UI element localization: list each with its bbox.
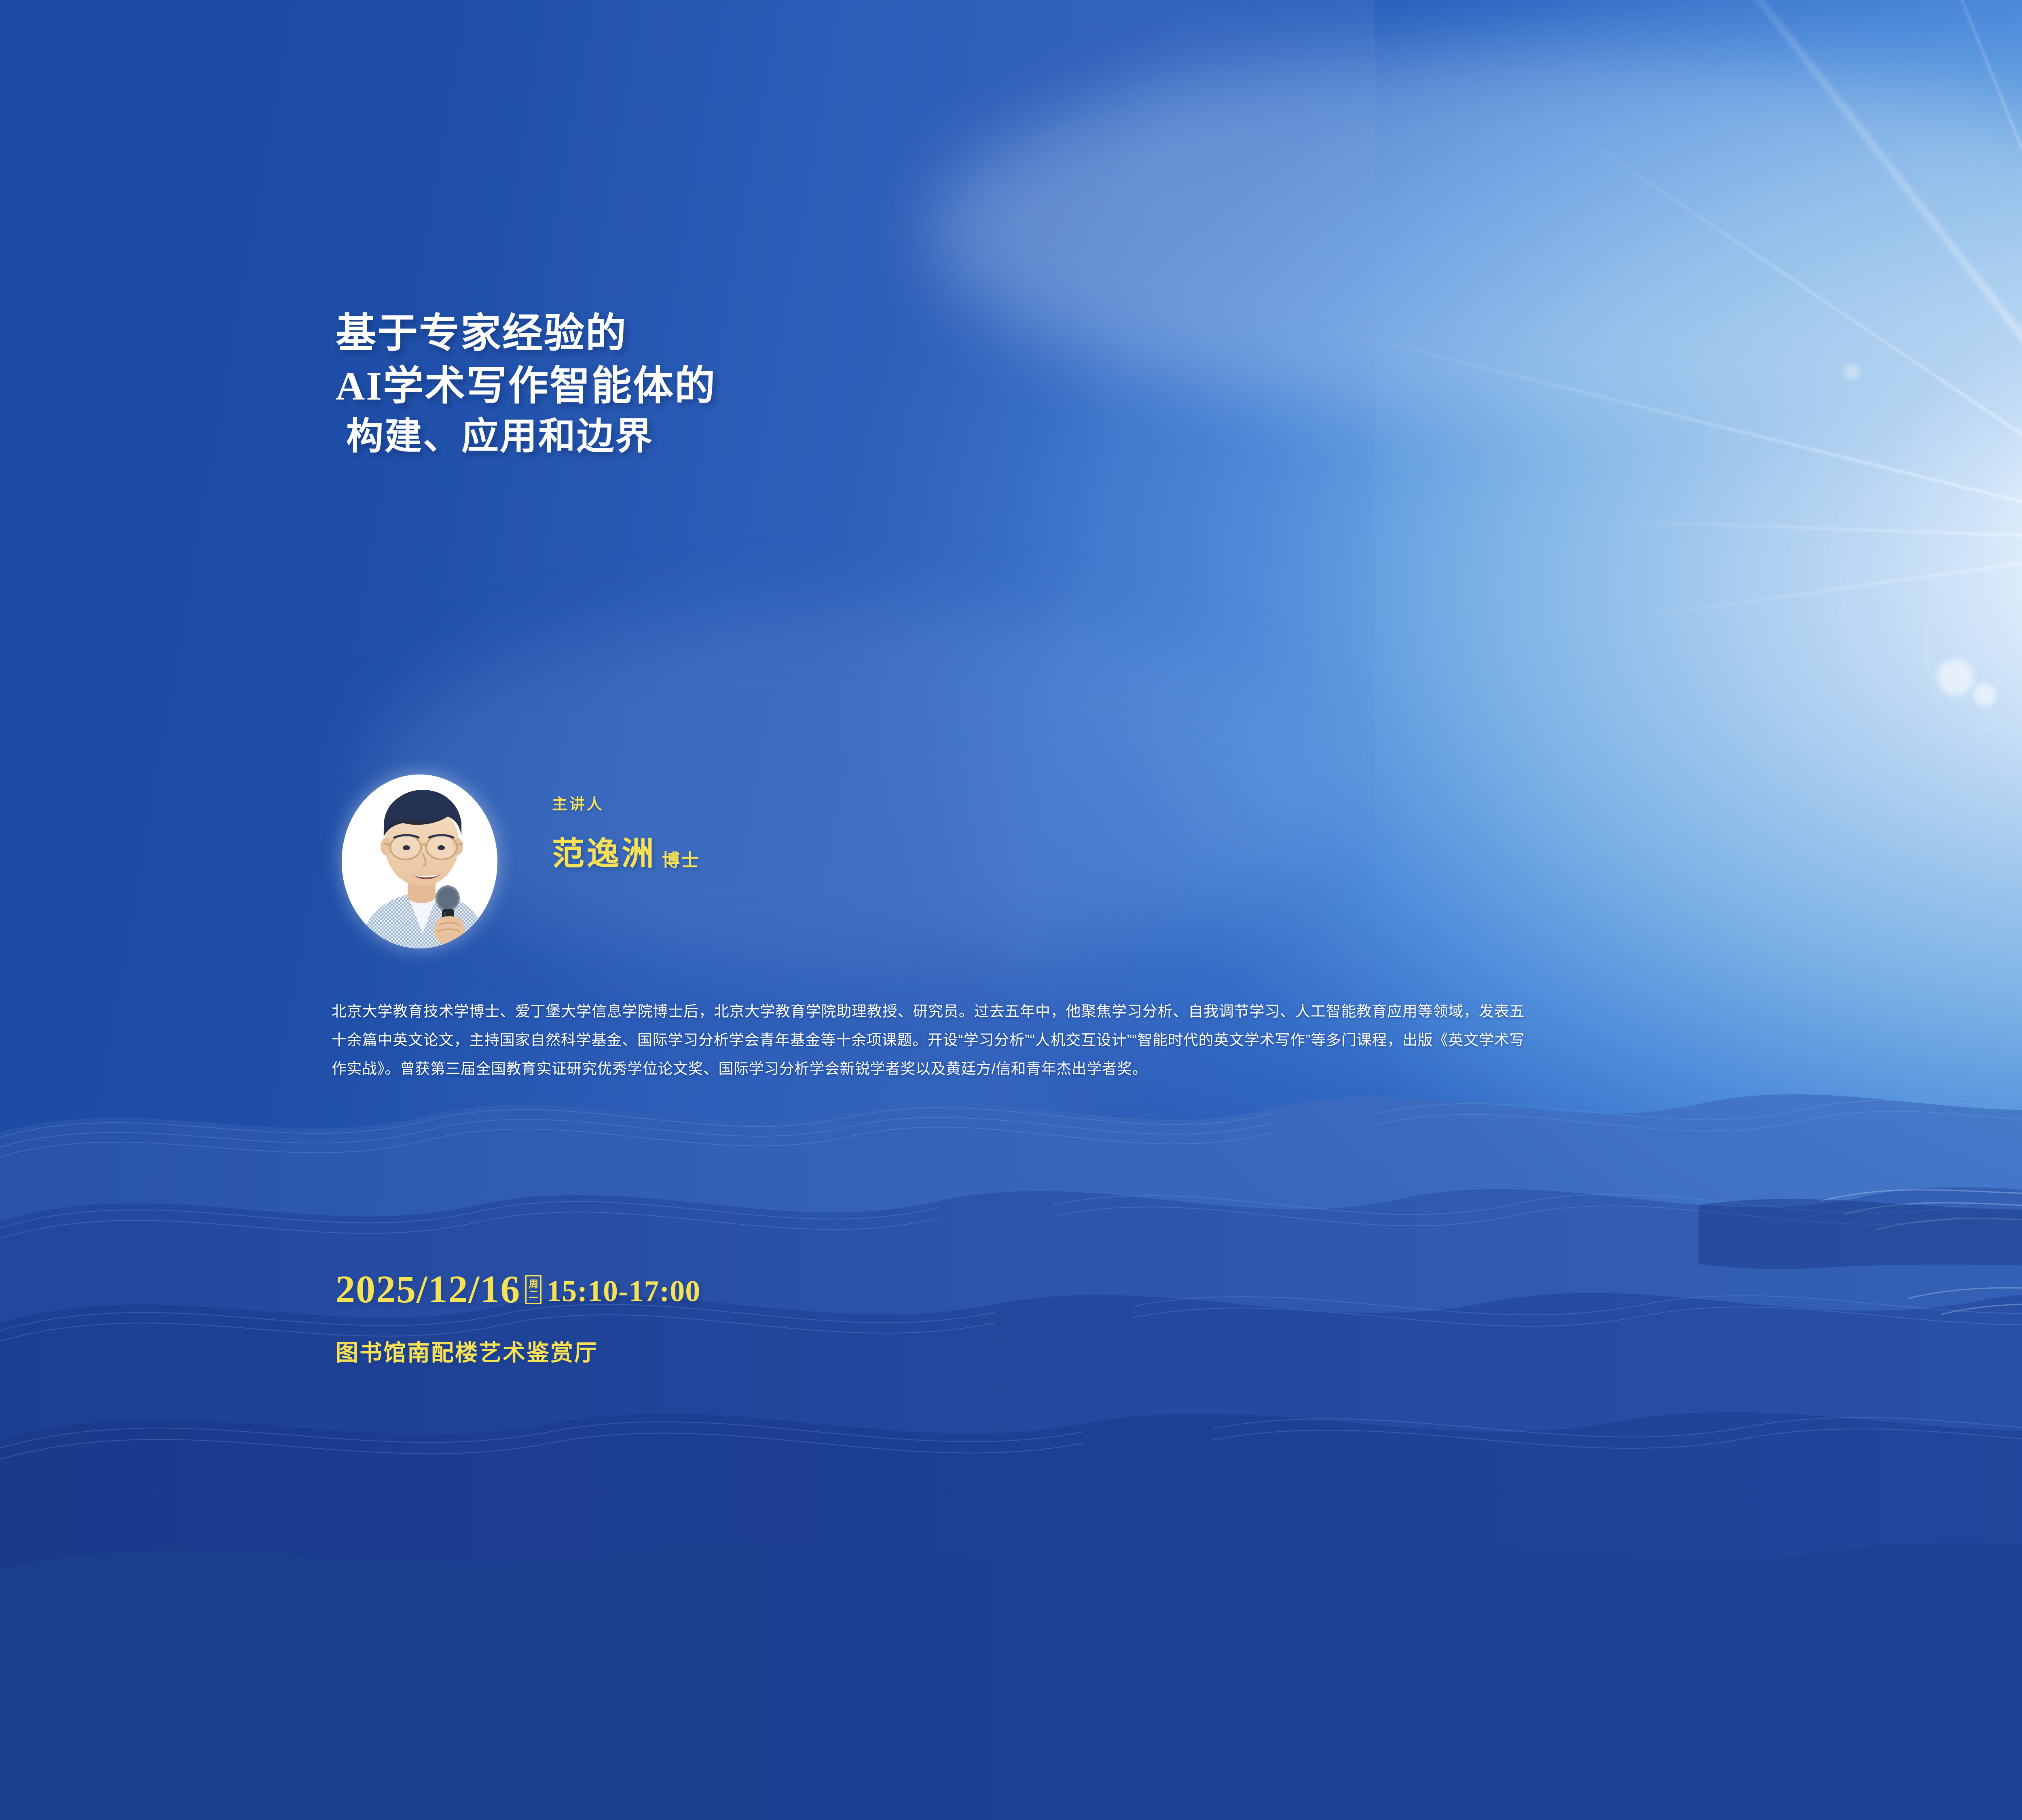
title-line-2: AI学术写作智能体的 [336,360,716,413]
speaker-role-label: 主讲人 [552,791,700,814]
speaker-bio: 北京大学教育技术学博士、爱丁堡大学信息学院博士后，北京大学教育学院助理教授、研究… [332,997,1525,1083]
event-time-range: 15:10-17:00 [546,1276,700,1309]
weekday-char-bottom: 二 [529,1290,538,1300]
event-datetime: 2025/12/16 周 二 15:10-17:00 [336,1270,700,1309]
title-line-3: 构建、应用和边界 [336,413,716,461]
title-line-1: 基于专家经验的 [336,307,716,360]
poster-canvas: 北京大学学术写作指导沙龙|数智教育发展沙龙 图书馆信息素质工作坊|未来学习中心A… [0,0,2022,1820]
speaker-name: 范逸洲 [552,827,656,874]
weekday-char-top: 周 [529,1279,538,1290]
speaker-name-row: 范逸洲 博士 [552,827,700,874]
speaker-name-suffix: 博士 [662,846,700,874]
ocean-waves-icon [0,1031,2022,1820]
speaker-block: 主讲人 范逸洲 博士 [342,775,908,948]
event-date: 2025/12/16 [336,1270,520,1309]
speaker-avatar [342,775,497,948]
event-weekday-badge: 周 二 [525,1275,541,1304]
speaker-meta: 主讲人 范逸洲 博士 [552,791,700,874]
event-venue: 图书馆南配楼艺术鉴赏厅 [336,1335,598,1367]
page-title: 基于专家经验的 AI学术写作智能体的 构建、应用和边界 [336,307,716,461]
